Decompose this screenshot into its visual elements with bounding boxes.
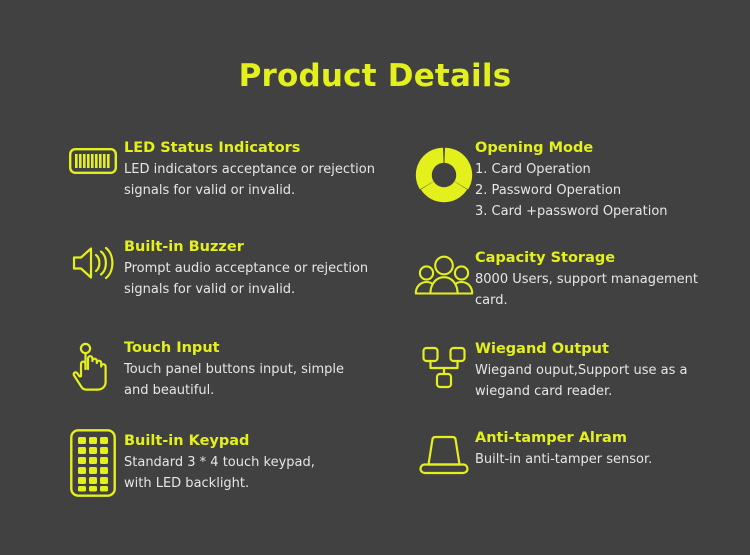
feature-title: Built-in Keypad xyxy=(124,433,375,450)
feature-description: LED indicators acceptance or rejection s… xyxy=(124,159,375,201)
led-bar-icon-wrap xyxy=(62,140,124,174)
touch-hand-icon xyxy=(72,342,114,392)
feature-wiegand-output: Wiegand Output Wiegand ouput,Support use… xyxy=(413,341,750,402)
alarm-beacon-icon-wrap xyxy=(413,430,475,476)
feature-title: Opening Mode xyxy=(475,140,750,157)
feature-text-block: Anti-tamper Alram Built-in anti-tamper s… xyxy=(475,430,750,470)
donut-chart-icon-wrap xyxy=(413,140,475,208)
feature-title: Built-in Buzzer xyxy=(124,239,375,256)
product-details-page: Product Details xyxy=(0,0,750,555)
features-columns: LED Status Indicators LED indicators acc… xyxy=(0,140,750,530)
alarm-beacon-icon xyxy=(415,434,473,476)
led-bar-icon xyxy=(69,148,117,174)
left-feature-column: LED Status Indicators LED indicators acc… xyxy=(0,140,375,530)
desc-line: and beautiful. xyxy=(124,380,375,401)
feature-title: Wiegand Output xyxy=(475,341,750,358)
feature-text-block: Built-in Keypad Standard 3 * 4 touch key… xyxy=(124,433,375,494)
feature-description: Prompt audio acceptance or rejection sig… xyxy=(124,258,375,300)
feature-capacity-storage: Capacity Storage 8000 Users, support man… xyxy=(413,250,750,311)
touch-hand-icon-wrap xyxy=(62,340,124,392)
desc-line: 2. Password Operation xyxy=(475,180,725,201)
feature-text-block: Opening Mode 1. Card Operation 2. Passwo… xyxy=(475,140,750,222)
keypad-grid-icon xyxy=(70,429,116,497)
feature-description: Standard 3 * 4 touch keypad, with LED ba… xyxy=(124,452,375,494)
feature-text-block: LED Status Indicators LED indicators acc… xyxy=(124,140,375,201)
desc-line: Prompt audio acceptance or rejection xyxy=(124,258,375,279)
feature-built-in-buzzer: Built-in Buzzer Prompt audio acceptance … xyxy=(62,239,375,300)
feature-touch-input: Touch Input Touch panel buttons input, s… xyxy=(62,340,375,401)
page-title: Product Details xyxy=(0,58,750,94)
feature-title: Anti-tamper Alram xyxy=(475,430,750,447)
feature-title: LED Status Indicators xyxy=(124,140,375,157)
keypad-grid-icon-wrap xyxy=(62,433,124,497)
feature-description: Touch panel buttons input, simple and be… xyxy=(124,359,375,401)
feature-text-block: Built-in Buzzer Prompt audio acceptance … xyxy=(124,239,375,300)
wiegand-network-icon xyxy=(417,345,471,391)
desc-line: signals for valid or invalid. xyxy=(124,180,375,201)
feature-title: Capacity Storage xyxy=(475,250,750,267)
feature-title: Touch Input xyxy=(124,340,375,357)
feature-description: Built-in anti-tamper sensor. xyxy=(475,449,725,470)
feature-opening-mode: Opening Mode 1. Card Operation 2. Passwo… xyxy=(413,140,750,222)
right-feature-column: Opening Mode 1. Card Operation 2. Passwo… xyxy=(375,140,750,530)
desc-line: LED indicators acceptance or rejection xyxy=(124,159,375,180)
desc-line: 3. Card +password Operation xyxy=(475,201,725,222)
feature-description: 8000 Users, support management card. xyxy=(475,269,725,311)
speaker-buzzer-icon xyxy=(70,243,116,283)
desc-line: 1. Card Operation xyxy=(475,159,725,180)
feature-description: Wiegand ouput,Support use as a wiegand c… xyxy=(475,360,725,402)
desc-line: card. xyxy=(475,290,725,311)
desc-line: with LED backlight. xyxy=(124,473,375,494)
people-group-icon xyxy=(414,254,474,296)
desc-line: Standard 3 * 4 touch keypad, xyxy=(124,452,375,473)
desc-line: Built-in anti-tamper sensor. xyxy=(475,449,725,470)
feature-anti-tamper-alarm: Anti-tamper Alram Built-in anti-tamper s… xyxy=(413,430,750,476)
feature-text-block: Capacity Storage 8000 Users, support man… xyxy=(475,250,750,311)
feature-description: 1. Card Operation 2. Password Operation … xyxy=(475,159,725,222)
desc-line: signals for valid or invalid. xyxy=(124,279,375,300)
desc-line: wiegand card reader. xyxy=(475,381,725,402)
feature-built-in-keypad: Built-in Keypad Standard 3 * 4 touch key… xyxy=(62,433,375,497)
wiegand-network-icon-wrap xyxy=(413,341,475,391)
feature-text-block: Wiegand Output Wiegand ouput,Support use… xyxy=(475,341,750,402)
desc-line: 8000 Users, support management xyxy=(475,269,725,290)
desc-line: Wiegand ouput,Support use as a xyxy=(475,360,725,381)
donut-chart-icon xyxy=(413,142,475,208)
feature-text-block: Touch Input Touch panel buttons input, s… xyxy=(124,340,375,401)
people-group-icon-wrap xyxy=(413,250,475,296)
feature-led-status-indicators: LED Status Indicators LED indicators acc… xyxy=(62,140,375,201)
speaker-buzzer-icon-wrap xyxy=(62,239,124,283)
desc-line: Touch panel buttons input, simple xyxy=(124,359,375,380)
